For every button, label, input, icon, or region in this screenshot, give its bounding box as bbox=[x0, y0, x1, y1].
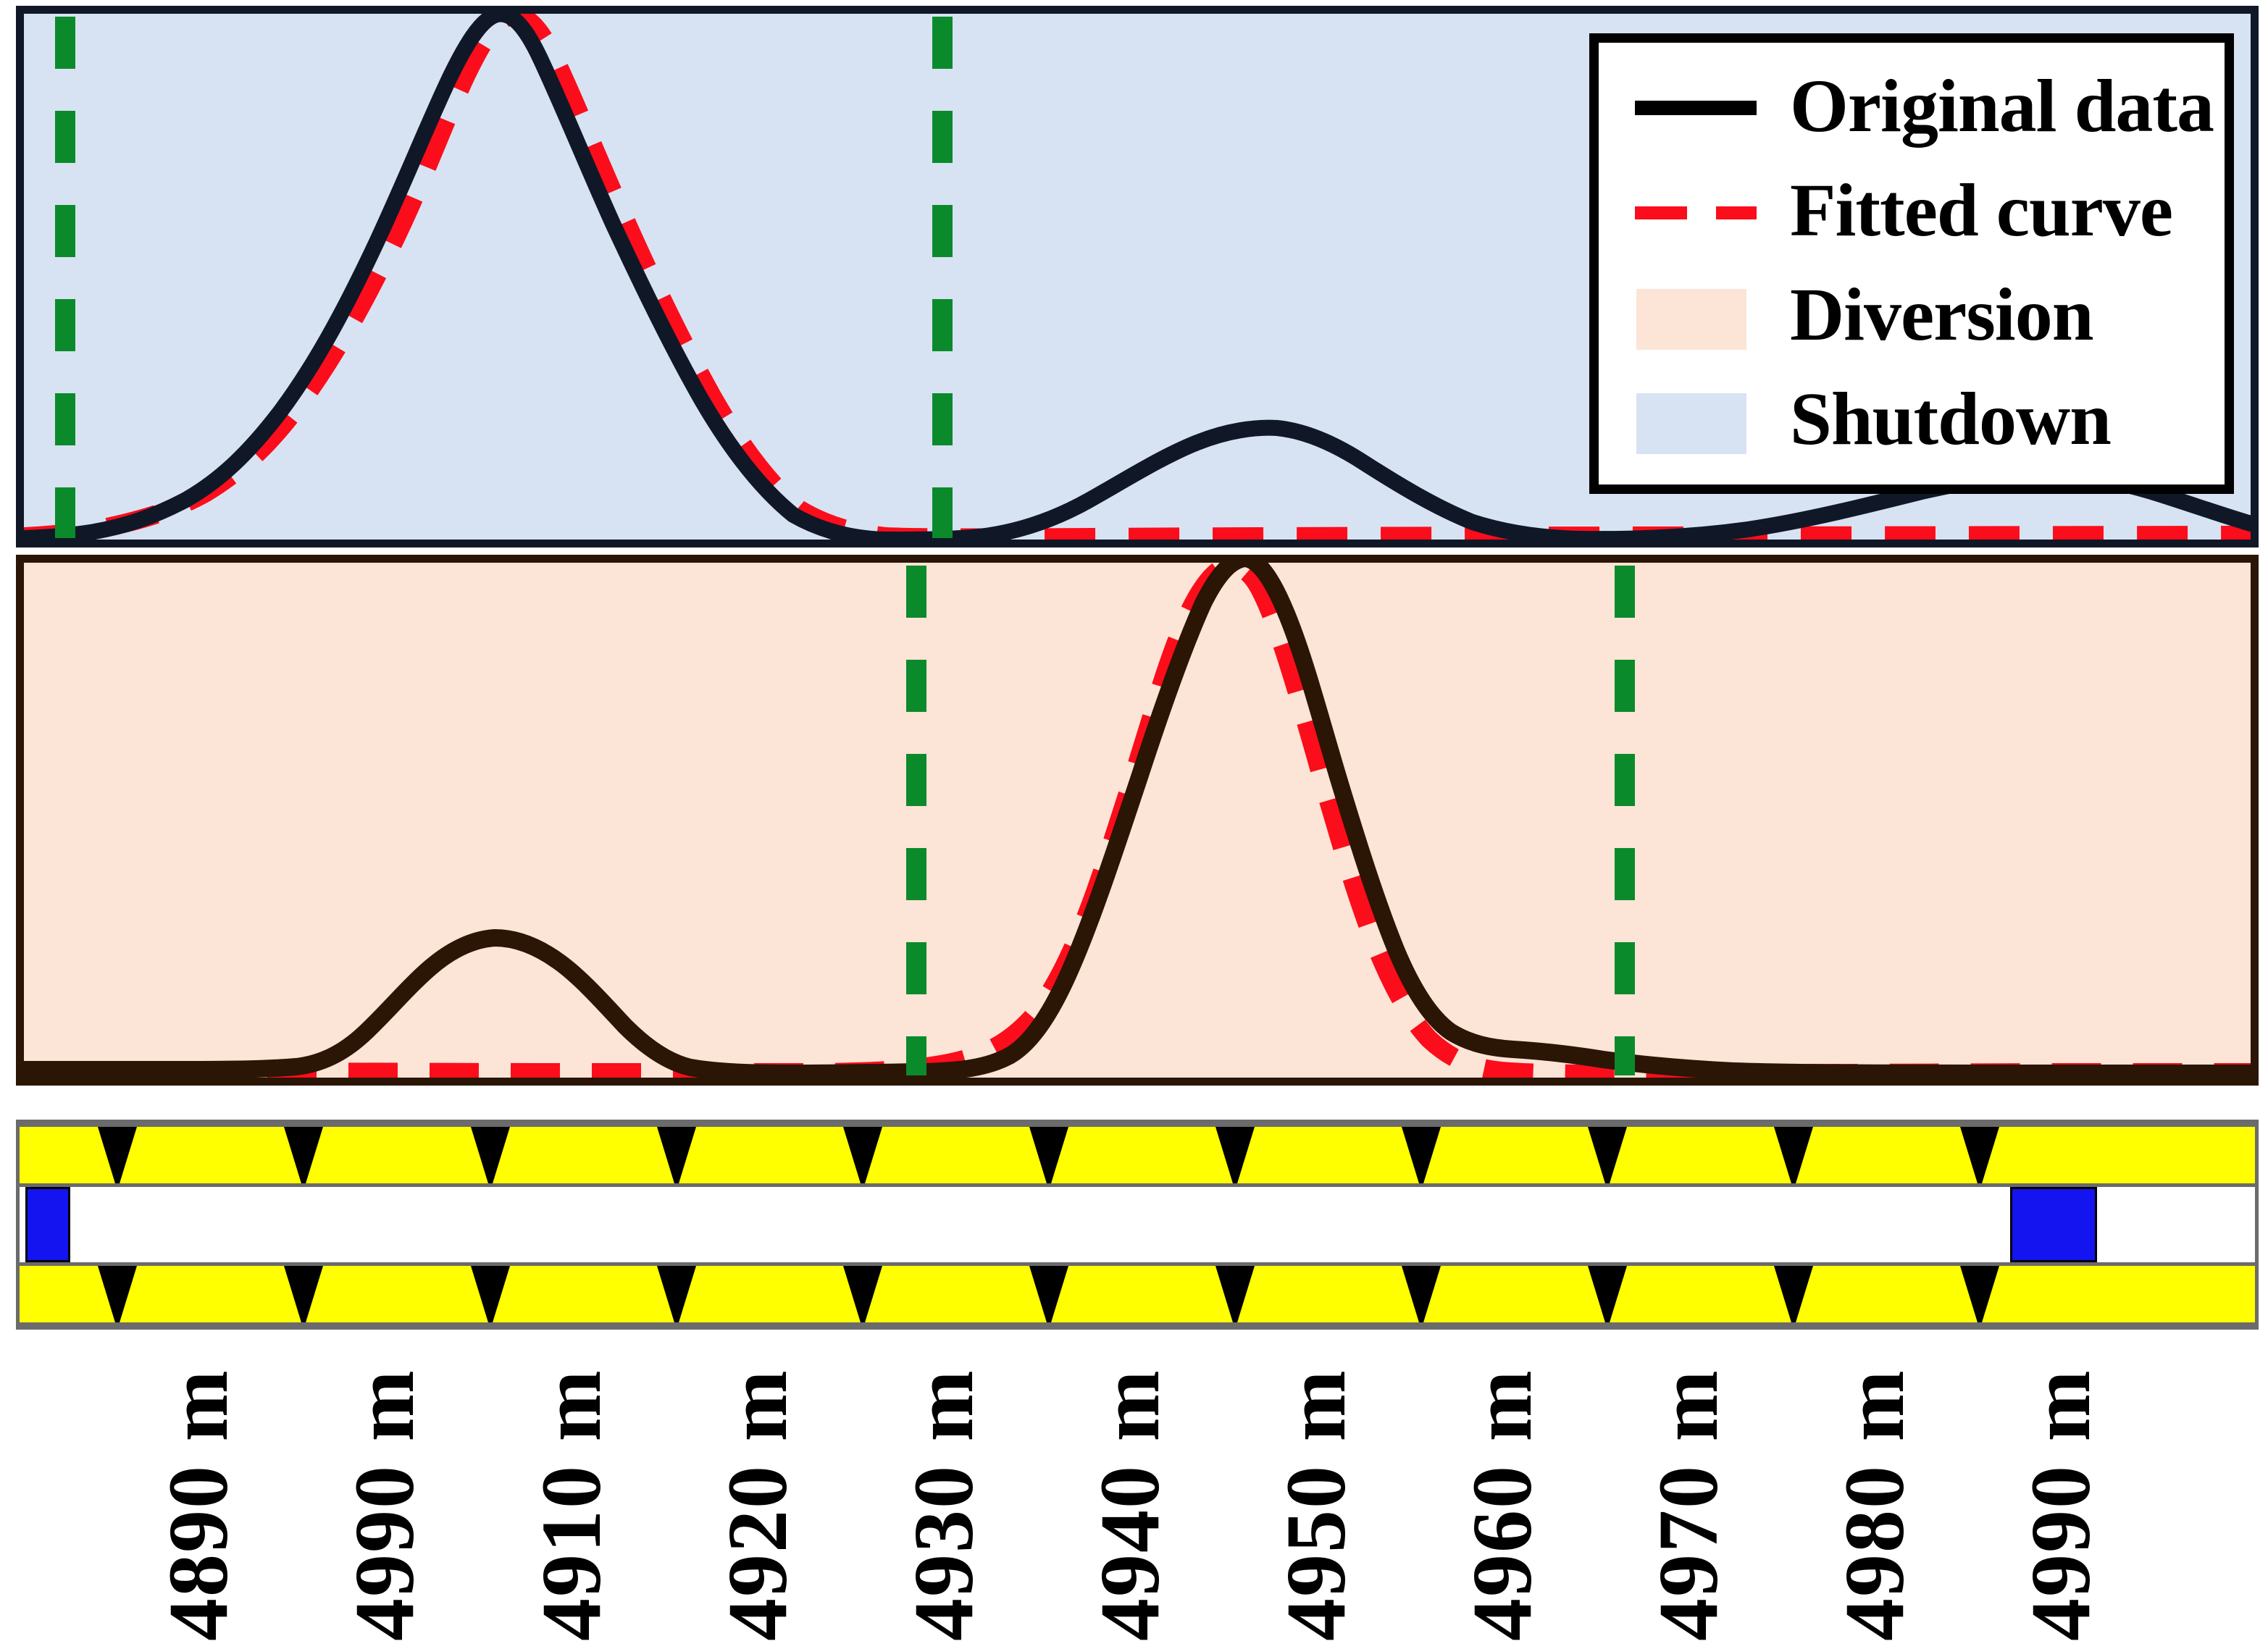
figure-root: Original data Fitted curve Diversion Shu… bbox=[0, 0, 2268, 1649]
legend-label-fitted-curve: Fitted curve bbox=[1790, 173, 2172, 248]
fiber-marker-triangle-top bbox=[843, 1127, 882, 1187]
legend-box: Original data Fitted curve Diversion Shu… bbox=[1589, 33, 2234, 494]
color-swatch-icon bbox=[1636, 289, 1746, 350]
blue-block-left bbox=[25, 1187, 70, 1262]
diversion-plot-area bbox=[24, 563, 2251, 1078]
legend-row-diversion: Diversion bbox=[1599, 264, 2225, 366]
axis-tick-label-row: 4890 m4990 m4910 m4920 m4930 m4940 m4950… bbox=[0, 1337, 2268, 1649]
fiber-marker-triangle-bottom bbox=[1402, 1266, 1441, 1326]
legend-key-original-data bbox=[1629, 70, 1774, 143]
fiber-marker-triangle-top bbox=[284, 1127, 323, 1187]
fiber-marker-triangle-bottom bbox=[284, 1266, 323, 1326]
panel-diversion bbox=[16, 555, 2259, 1086]
legend-key-shutdown bbox=[1629, 383, 1774, 456]
legend-label-diversion: Diversion bbox=[1790, 277, 2093, 353]
legend-label-shutdown: Shutdown bbox=[1790, 382, 2111, 457]
fiber-marker-triangle-bottom bbox=[1029, 1266, 1068, 1326]
solid-line-icon bbox=[1635, 101, 1757, 115]
color-swatch-icon bbox=[1636, 393, 1746, 454]
fiber-marker-triangle-bottom bbox=[471, 1266, 510, 1326]
fiber-marker-triangle-top bbox=[1029, 1127, 1068, 1187]
fiber-marker-triangle-bottom bbox=[1774, 1266, 1813, 1326]
schematic-band-top bbox=[20, 1123, 2255, 1187]
fiber-marker-triangle-bottom bbox=[1588, 1266, 1627, 1326]
legend-row-original-data: Original data bbox=[1599, 56, 2225, 157]
dashed-line-icon bbox=[1635, 206, 1762, 219]
fiber-marker-triangle-top bbox=[1774, 1127, 1813, 1187]
fiber-marker-triangle-bottom bbox=[657, 1266, 696, 1326]
legend-key-diversion bbox=[1629, 279, 1774, 351]
schematic-channel bbox=[20, 1187, 2255, 1262]
fiber-marker-triangle-top bbox=[1215, 1127, 1255, 1187]
schematic-band-bottom bbox=[20, 1262, 2255, 1326]
fiber-marker-triangle-top bbox=[471, 1127, 510, 1187]
pipeline-fiber-schematic bbox=[16, 1120, 2259, 1330]
axis-tick-label: 4990 m bbox=[2018, 1337, 2268, 1641]
blue-block-right bbox=[2010, 1187, 2097, 1262]
fiber-marker-triangle-bottom bbox=[1215, 1266, 1255, 1326]
fiber-marker-triangle-top bbox=[1402, 1127, 1441, 1187]
legend-row-shutdown: Shutdown bbox=[1599, 369, 2225, 470]
diversion-fitted-curve bbox=[24, 566, 2251, 1074]
fiber-marker-triangle-bottom bbox=[98, 1266, 137, 1326]
legend-row-fitted-curve: Fitted curve bbox=[1599, 160, 2225, 261]
fiber-marker-triangle-bottom bbox=[1960, 1266, 1999, 1326]
legend-key-fitted-curve bbox=[1629, 175, 1774, 247]
fiber-marker-triangle-bottom bbox=[843, 1266, 882, 1326]
legend-label-original-data: Original data bbox=[1790, 69, 2214, 144]
fiber-marker-triangle-top bbox=[657, 1127, 696, 1187]
fiber-marker-triangle-top bbox=[98, 1127, 137, 1187]
diversion-plot-svg bbox=[24, 563, 2251, 1078]
fiber-marker-triangle-top bbox=[1588, 1127, 1627, 1187]
diversion-original-data bbox=[24, 563, 2251, 1073]
fiber-marker-triangle-top bbox=[1960, 1127, 1999, 1187]
